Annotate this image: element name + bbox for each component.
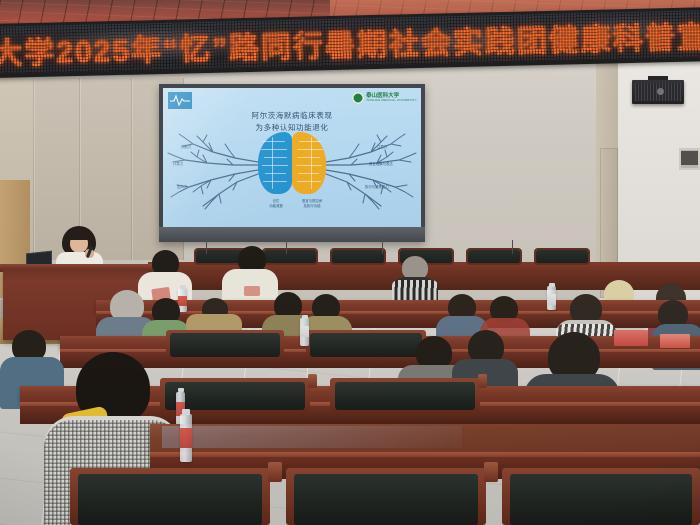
screen-lower-frame bbox=[159, 227, 425, 242]
bottle-cap bbox=[180, 285, 186, 289]
presenter-hair-front bbox=[67, 231, 91, 240]
gift-box bbox=[660, 334, 690, 348]
desk-reflection bbox=[162, 426, 462, 448]
microphone-icon bbox=[286, 240, 287, 254]
head-table-chair bbox=[332, 250, 384, 263]
seat-armrest-knob bbox=[308, 374, 317, 388]
bottle-cap bbox=[182, 409, 190, 415]
bottle-cap bbox=[302, 315, 308, 319]
screen-glare bbox=[163, 88, 421, 227]
seat-back bbox=[335, 382, 475, 410]
bottle-label bbox=[300, 326, 309, 337]
head-table-chair bbox=[536, 250, 588, 263]
presentation-slide: 泰山医科大学 TAISHAN MEDICAL UNIVERSITY 阿尔茨海默病… bbox=[163, 88, 421, 227]
seat-back bbox=[170, 333, 280, 357]
seat-back bbox=[165, 382, 305, 410]
bottle-label bbox=[547, 294, 556, 305]
seat-back bbox=[510, 474, 692, 525]
seat-back bbox=[78, 474, 262, 525]
seat-armrest-knob bbox=[268, 462, 282, 482]
microphone-icon bbox=[206, 240, 207, 254]
bottle-label bbox=[180, 428, 192, 448]
seat-armrest-knob bbox=[484, 462, 498, 482]
speaker-logo bbox=[657, 88, 664, 95]
volunteer-shirt-print bbox=[244, 286, 260, 296]
seat-back bbox=[294, 474, 478, 525]
wall-panel-display bbox=[681, 151, 698, 165]
bottle-cap bbox=[549, 283, 555, 287]
seat-armrest-knob bbox=[478, 374, 487, 388]
microphone-icon bbox=[382, 238, 383, 254]
microphone-icon bbox=[512, 240, 513, 254]
lecture-hall-photo: 科大学2025年“忆”路同行暑期社会实践团健康科普宣讲 泰山医科大学 TAISH… bbox=[0, 0, 700, 525]
